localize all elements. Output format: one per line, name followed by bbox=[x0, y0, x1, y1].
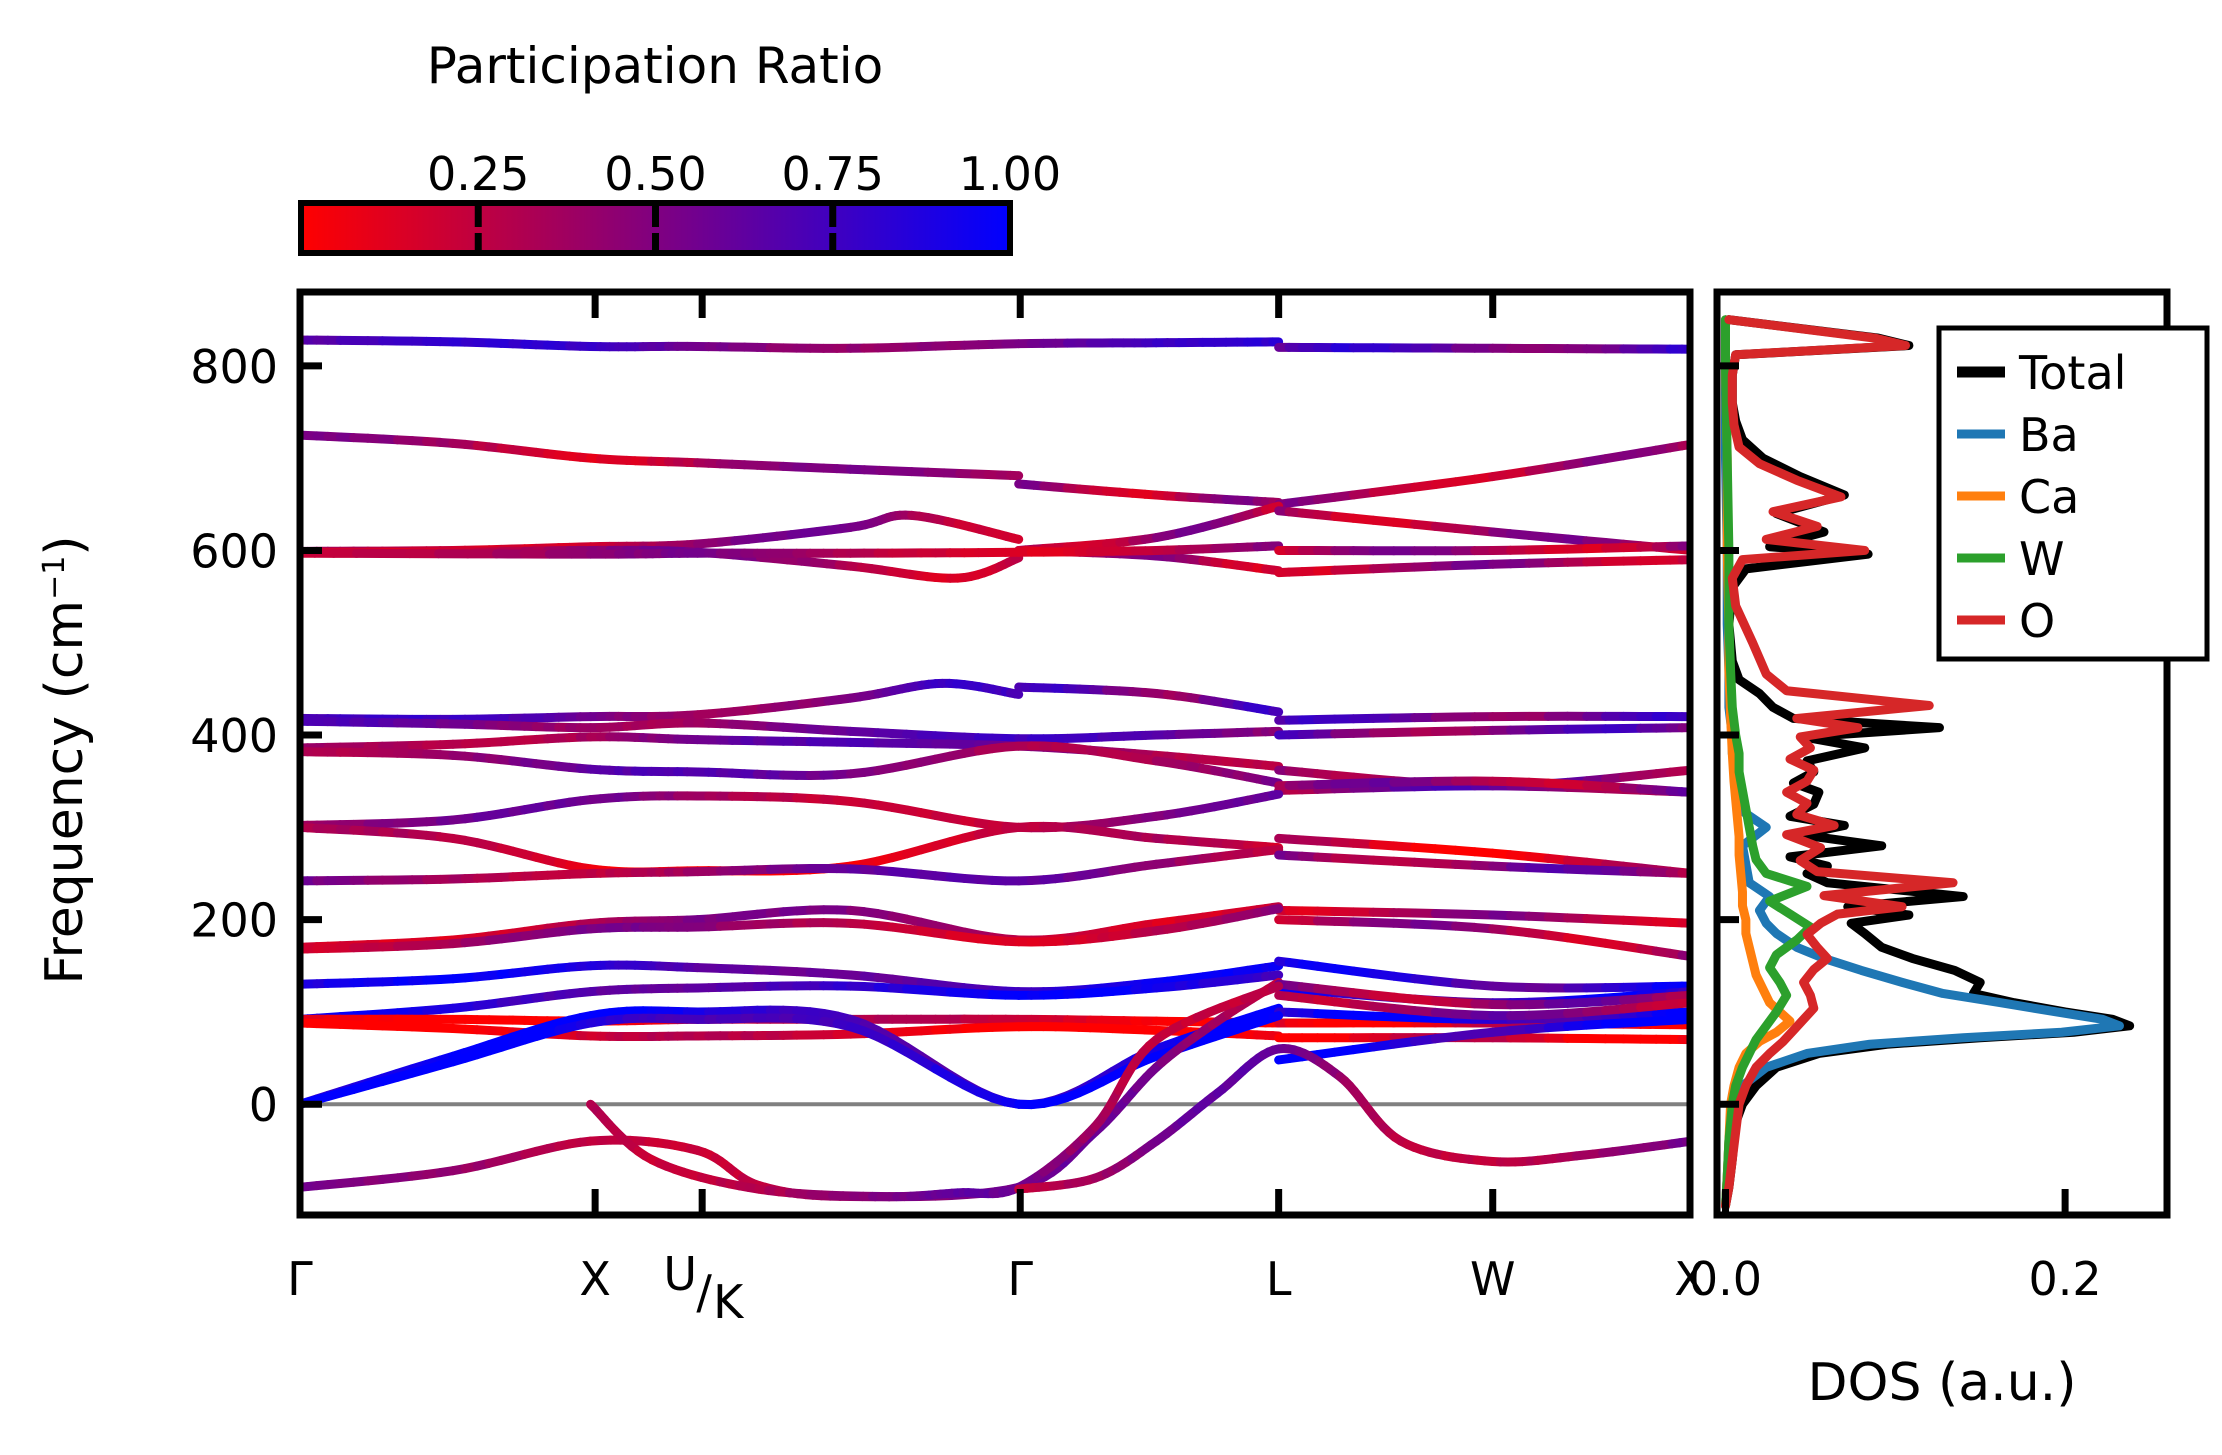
phonon-figure: Participation Ratio 0.250.500.751.00 020… bbox=[0, 0, 2222, 1455]
dos-x-tick-label: 0.2 bbox=[2029, 1252, 2102, 1306]
dos-axis-label: DOS (a.u.) bbox=[1808, 1353, 2077, 1413]
band-segment bbox=[1273, 849, 1279, 850]
band-segment bbox=[1016, 558, 1019, 559]
colorbar-tick-label: 0.50 bbox=[604, 147, 706, 201]
band-segment bbox=[1273, 966, 1279, 967]
legend-label-ca[interactable]: Ca bbox=[2019, 470, 2079, 524]
colorbar-tick-label: 0.25 bbox=[427, 147, 529, 201]
band-curve bbox=[1279, 546, 1692, 551]
band-segment bbox=[1273, 975, 1279, 976]
band-x-tick-label: X bbox=[579, 1252, 611, 1306]
uk-numerator: U bbox=[663, 1247, 697, 1301]
band-y-tick-label: 800 bbox=[190, 340, 278, 394]
colorbar-tick-label: 0.75 bbox=[782, 147, 884, 201]
band-curve bbox=[1279, 347, 1692, 349]
band-segment bbox=[1273, 794, 1279, 795]
band-x-tick-label: Γ bbox=[287, 1252, 313, 1306]
band-segment bbox=[1273, 1016, 1279, 1018]
band-curve bbox=[1279, 716, 1692, 720]
band-segment bbox=[1273, 986, 1279, 988]
figure-canvas: Participation Ratio 0.250.500.751.00 020… bbox=[0, 0, 2222, 1455]
svg-text:Frequency (cm−1): Frequency (cm−1) bbox=[35, 535, 95, 984]
legend-label-w[interactable]: W bbox=[2019, 532, 2064, 586]
band-y-tick-label: 600 bbox=[190, 524, 278, 578]
colorbar-tick-label: 1.00 bbox=[959, 147, 1061, 201]
dos-legend[interactable]: TotalBaCaWO bbox=[1939, 328, 2207, 659]
band-curve bbox=[1279, 1038, 1692, 1040]
legend-label-o[interactable]: O bbox=[2019, 594, 2055, 648]
band-y-axis-label: Frequency (cm−1) bbox=[35, 535, 95, 984]
band-x-tick-label: W bbox=[1470, 1252, 1515, 1306]
band-y-tick-label: 400 bbox=[190, 709, 278, 763]
colorbar-title: Participation Ratio bbox=[427, 37, 883, 95]
uk-slash: / bbox=[696, 1265, 712, 1319]
legend-label-total[interactable]: Total bbox=[2018, 346, 2126, 400]
band-x-tick-label: L bbox=[1266, 1252, 1292, 1306]
band-segment bbox=[1273, 909, 1279, 910]
band-y-tick-label: 0 bbox=[249, 1078, 278, 1132]
band-segment bbox=[1273, 711, 1279, 712]
uk-denominator: K bbox=[713, 1275, 745, 1329]
band-x-tick-label: Γ bbox=[1007, 1252, 1033, 1306]
band-segment bbox=[1013, 538, 1018, 539]
band-y-tick-label: 200 bbox=[190, 894, 278, 948]
band-segment bbox=[1015, 694, 1019, 695]
dos-x-tick-label: 0.0 bbox=[1689, 1252, 1762, 1306]
legend-label-ba[interactable]: Ba bbox=[2019, 408, 2079, 462]
